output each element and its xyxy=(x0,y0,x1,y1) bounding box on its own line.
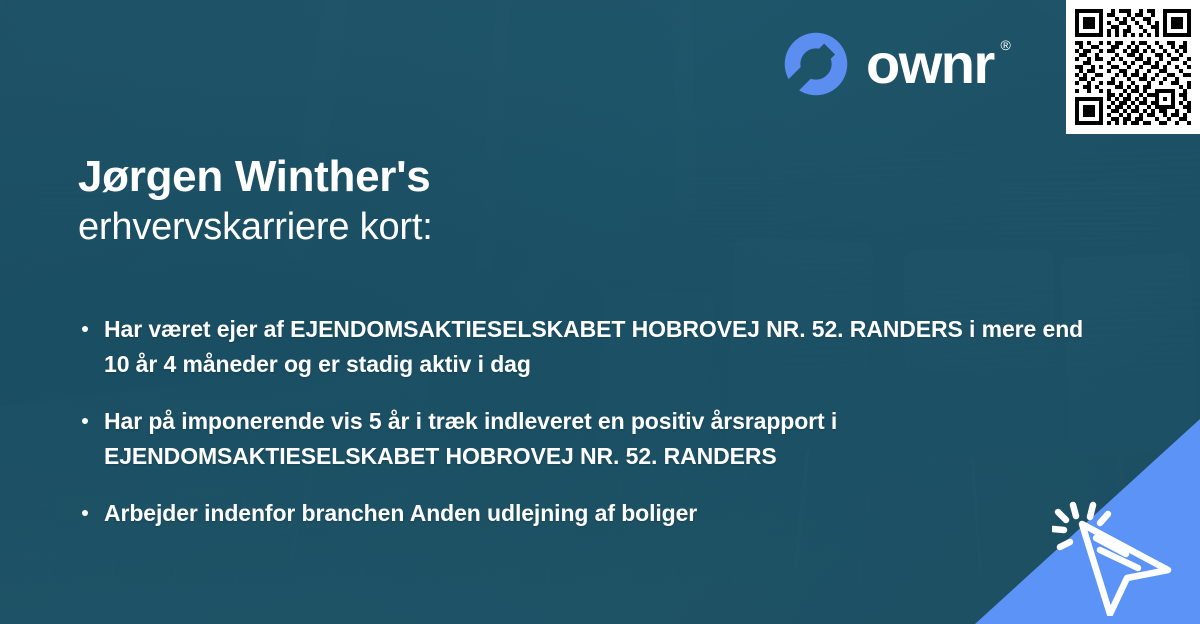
bullet-dot-icon xyxy=(82,510,88,516)
page-title: Jørgen Winther's erhvervskarriere kort: xyxy=(78,152,958,251)
ownr-wordmark: ownr® xyxy=(866,36,994,92)
list-item-text: Har været ejer af EJENDOMSAKTIESELSKABET… xyxy=(104,316,1083,377)
qr-code-icon xyxy=(1075,9,1191,125)
headline-name: Jørgen Winther's xyxy=(78,152,958,201)
list-item: Har været ejer af EJENDOMSAKTIESELSKABET… xyxy=(78,312,1088,382)
qr-code[interactable] xyxy=(1066,0,1200,134)
career-card: ownr® xyxy=(0,0,1200,624)
list-item-text: Arbejder indenfor branchen Anden udlejni… xyxy=(104,500,697,526)
headline-subtitle: erhvervskarriere kort: xyxy=(78,205,958,251)
ownr-wordmark-text: ownr xyxy=(866,32,994,95)
bullet-dot-icon xyxy=(82,418,88,424)
registered-trademark-symbol: ® xyxy=(1000,38,1010,52)
bullet-dot-icon xyxy=(82,326,88,332)
ownr-circle-swirl-icon xyxy=(782,30,850,98)
list-item: Har på imponerende vis 5 år i træk indle… xyxy=(78,404,1088,474)
list-item: Arbejder indenfor branchen Anden udlejni… xyxy=(78,496,1088,531)
list-item-text: Har på imponerende vis 5 år i træk indle… xyxy=(104,408,837,469)
click-cursor-icon xyxy=(1052,496,1192,616)
career-highlights-list: Har været ejer af EJENDOMSAKTIESELSKABET… xyxy=(78,312,1088,531)
ownr-logo[interactable]: ownr® xyxy=(782,28,994,100)
